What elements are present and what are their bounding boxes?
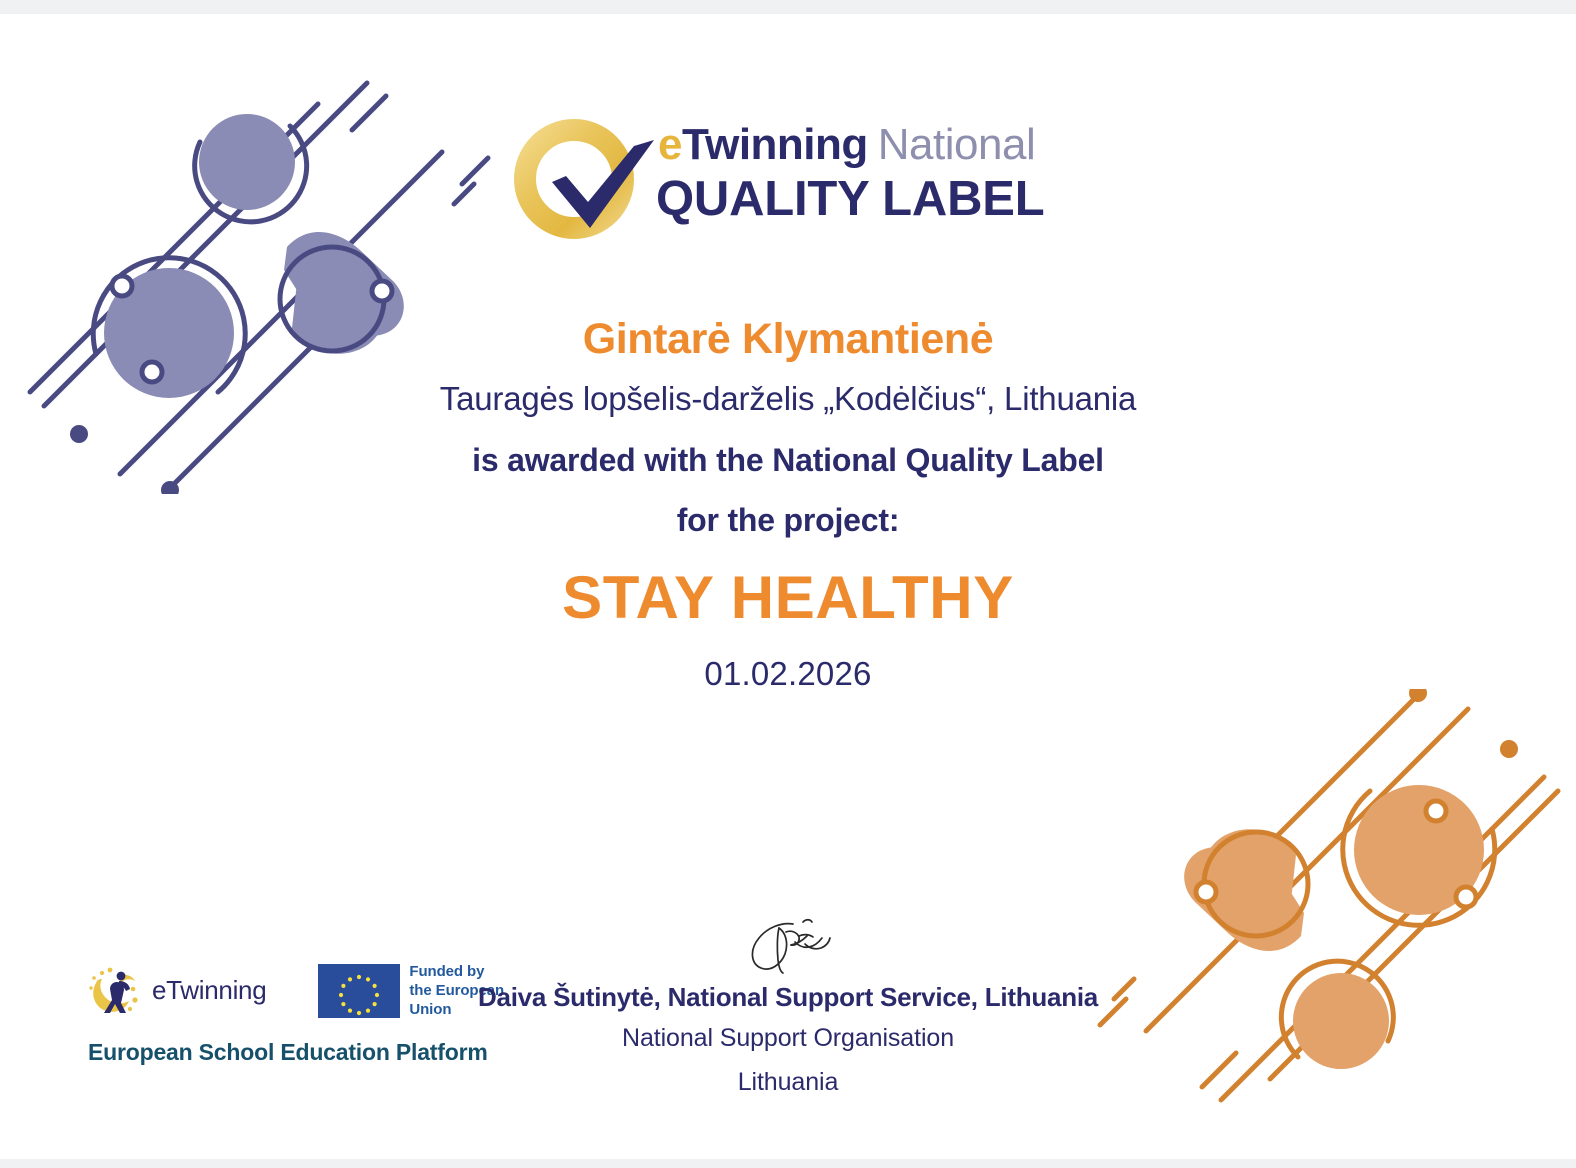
- project-title: STAY HEALTHY: [0, 550, 1576, 646]
- national-support-organisation-country: Lithuania: [408, 1060, 1168, 1104]
- certificate-footer: eTwinning: [0, 914, 1576, 1134]
- logo-national: National: [868, 120, 1035, 169]
- top-edge-band: [0, 0, 1576, 14]
- etwinning-logo: eTwinning: [88, 967, 266, 1015]
- certificate-sheet: eTwinningNational QUALITY LABEL Gintarė …: [0, 14, 1576, 1159]
- national-support-organisation-label: National Support Organisation: [408, 1016, 1168, 1060]
- signature-block: Daiva Šutinytė, National Support Service…: [408, 914, 1168, 1104]
- quality-label-q-checkmark-icon: [508, 116, 660, 252]
- logo-e: e: [658, 120, 682, 169]
- signature-icon: [733, 914, 843, 976]
- school-name: Tauragės lopšelis-darželis „Kodėlčius“, …: [0, 368, 1576, 430]
- etwinning-figure-icon: [88, 967, 146, 1015]
- for-the-project-label: for the project:: [0, 490, 1576, 550]
- signatory-name: Daiva Šutinytė, National Support Service…: [408, 978, 1168, 1016]
- certificate-body: Gintarė Klymantienė Tauragės lopšelis-da…: [0, 310, 1576, 702]
- bottom-edge-band: [0, 1159, 1576, 1168]
- recipient-name: Gintarė Klymantienė: [0, 310, 1576, 368]
- award-statement: is awarded with the National Quality Lab…: [0, 430, 1576, 490]
- logo-twinning: Twinning: [682, 120, 868, 169]
- logo-quality-label: QUALITY LABEL: [656, 172, 1045, 226]
- etwinning-wordmark: eTwinning: [152, 975, 266, 1006]
- quality-label-logo: eTwinningNational QUALITY LABEL: [0, 114, 1576, 264]
- eu-flag-icon: [318, 964, 400, 1018]
- award-date: 01.02.2026: [0, 646, 1576, 702]
